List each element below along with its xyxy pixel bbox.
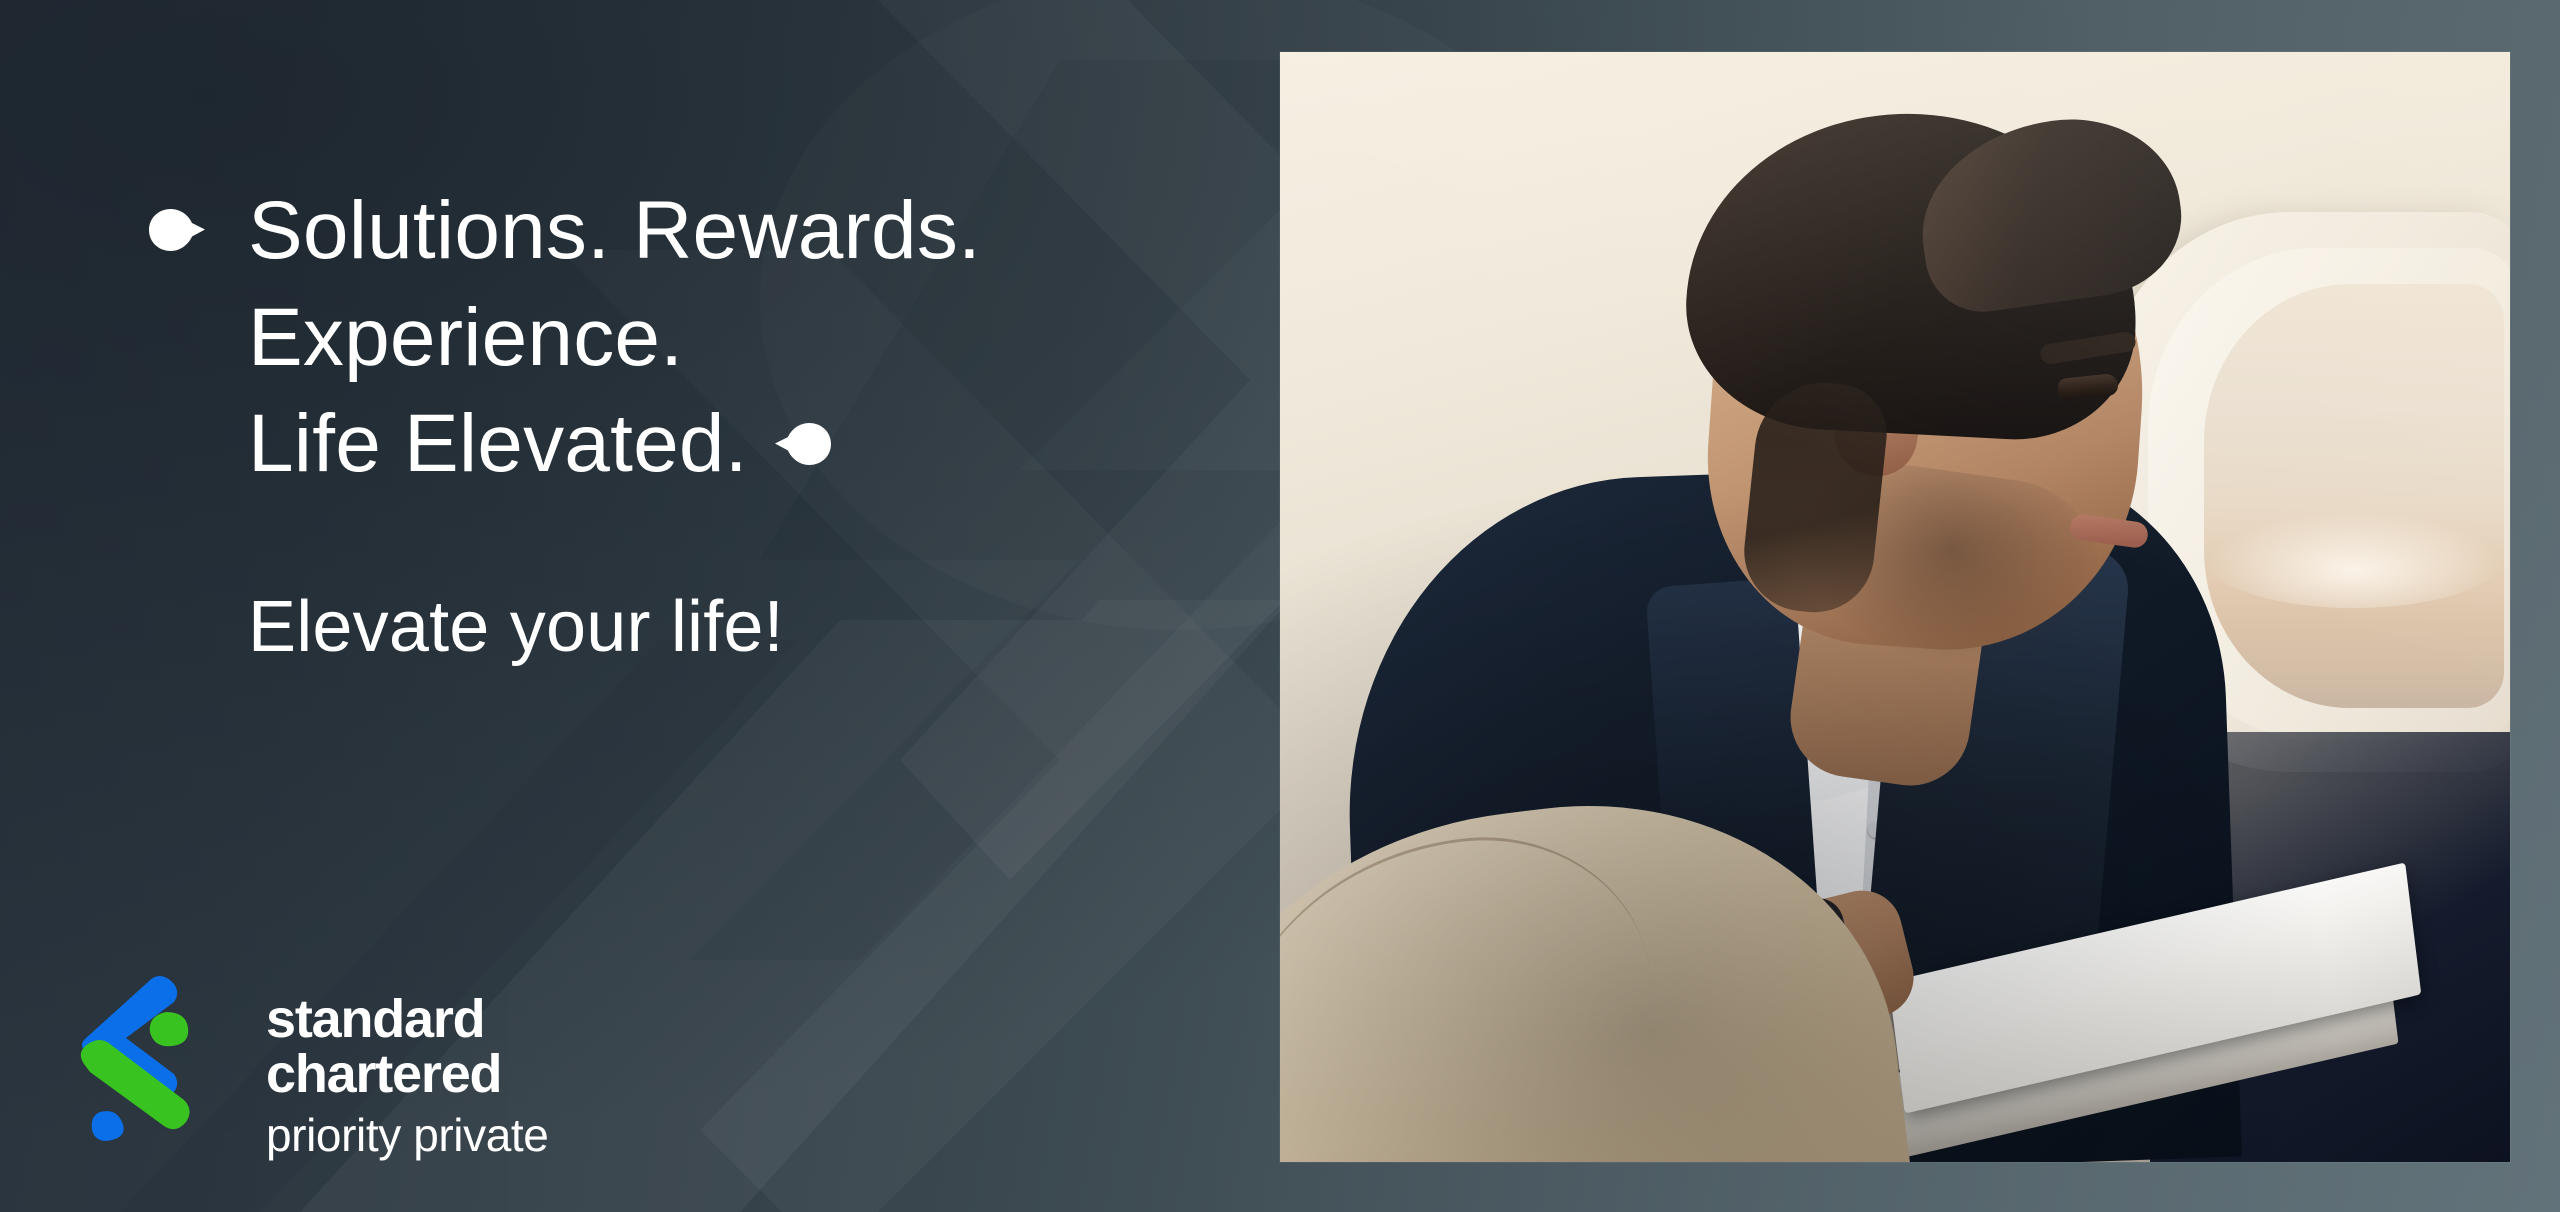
brand-lockup: standard chartered priority private (70, 968, 548, 1162)
window-cloud-layer (2208, 512, 2500, 608)
brand-wordmark: standard chartered priority private (266, 968, 548, 1162)
brand-quote-close-icon (774, 423, 832, 465)
brand-name-line-2: chartered (266, 1047, 548, 1102)
headline-line-3: Life Elevated. (248, 391, 1148, 498)
brand-subbrand: priority private (266, 1102, 548, 1162)
subheadline: Elevate your life! (248, 498, 1148, 670)
brand-name-line-1: standard (266, 992, 548, 1047)
brand-banner: Solutions. Rewards. Experience. Life Ele… (0, 0, 2560, 1212)
airplane-window-glass (2204, 284, 2504, 708)
headline-line-2-text: Experience. (248, 292, 683, 383)
headline-block: Solutions. Rewards. Experience. Life Ele… (248, 178, 1148, 670)
page-title: Solutions. Rewards. Experience. Life Ele… (248, 178, 1148, 498)
headline-line-1: Solutions. Rewards. (248, 178, 1148, 285)
standard-chartered-logo-mark (70, 968, 198, 1144)
headline-line-2: Experience. (248, 285, 1148, 392)
headline-line-1-text: Solutions. Rewards. (248, 185, 981, 276)
hero-photo (1280, 52, 2510, 1162)
brand-quote-open-icon (148, 209, 206, 251)
headline-line-3-text: Life Elevated. (248, 398, 748, 489)
